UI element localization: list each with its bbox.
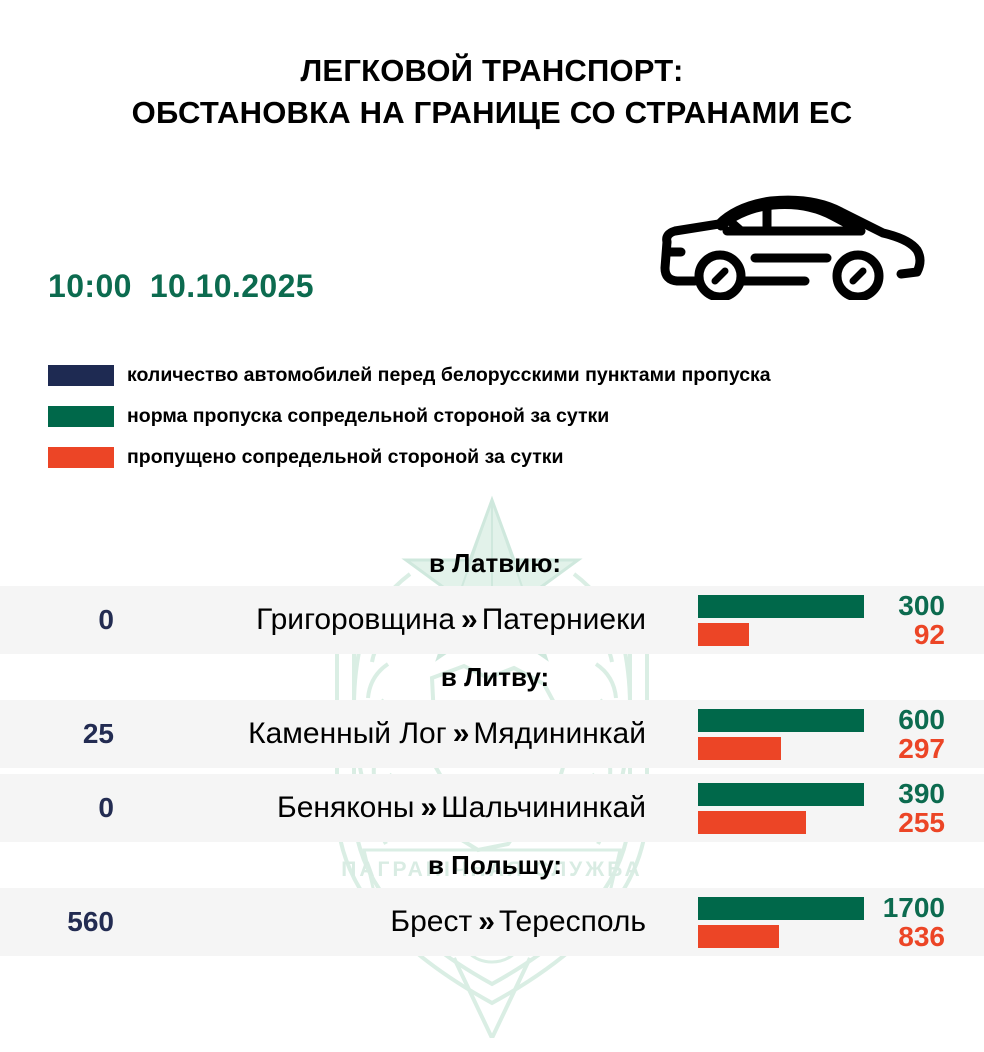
bar-passed <box>698 811 806 834</box>
chevron-right-icon: » <box>472 905 499 938</box>
bar-norm <box>698 709 864 732</box>
legend-item-passed: пропущено сопредельной стороной за сутки <box>48 437 771 478</box>
value-norm: 300 <box>864 591 945 620</box>
route-from: Брест <box>390 905 472 938</box>
bar-passed <box>698 737 781 760</box>
border-crossing-table: в Латвию: 0 Григоровщина»Патерниеки 300 … <box>0 540 984 956</box>
queue-count: 0 <box>0 792 118 824</box>
route: Каменный Лог»Мядининкай <box>118 716 698 752</box>
route: Брест»Тересполь <box>118 904 698 940</box>
chevron-right-icon: » <box>414 791 441 824</box>
route-to: Мядининкай <box>473 717 646 750</box>
legend-label-queue: количество автомобилей перед белорусским… <box>127 364 771 387</box>
timestamp-date: 10.10.2025 <box>150 268 314 304</box>
section-header-lithuania: в Литву: <box>0 654 984 700</box>
value-norm: 390 <box>864 779 945 808</box>
legend-swatch-navy <box>48 365 114 386</box>
bars <box>698 897 864 948</box>
value-passed: 297 <box>864 734 945 763</box>
bar-norm <box>698 783 864 806</box>
table-row: 560 Брест»Тересполь 1700 836 <box>0 888 984 956</box>
queue-count: 560 <box>0 906 118 938</box>
legend-label-norm: норма пропуска сопредельной стороной за … <box>127 405 609 428</box>
values: 600 297 <box>864 705 984 763</box>
legend-swatch-green <box>48 406 114 427</box>
title-line-2: ОБСТАНОВКА НА ГРАНИЦЕ СО СТРАНАМИ ЕС <box>0 92 984 134</box>
timestamp: 10:0010.10.2025 <box>48 268 314 305</box>
bars <box>698 783 864 834</box>
chevron-right-icon: » <box>455 603 482 636</box>
route-to: Тересполь <box>499 905 646 938</box>
table-row: 0 Беняконы»Шальчининкай 390 255 <box>0 774 984 842</box>
route-from: Беняконы <box>277 791 414 824</box>
infographic-page: ПАГРАНІЧНАЯ СЛУЖБА РЭСПУБЛІКІ БЕЛАРУСЬ Л… <box>0 0 984 1052</box>
values: 300 92 <box>864 591 984 649</box>
car-icon <box>655 190 930 300</box>
queue-count: 25 <box>0 718 118 750</box>
value-passed: 255 <box>864 808 945 837</box>
page-title: ЛЕГКОВОЙ ТРАНСПОРТ: ОБСТАНОВКА НА ГРАНИЦ… <box>0 50 984 134</box>
table-row: 25 Каменный Лог»Мядининкай 600 297 <box>0 700 984 768</box>
route: Беняконы»Шальчининкай <box>118 790 698 826</box>
chevron-right-icon: » <box>447 717 474 750</box>
value-norm: 600 <box>864 705 945 734</box>
values: 1700 836 <box>864 893 984 951</box>
timestamp-time: 10:00 <box>48 268 132 304</box>
bar-passed <box>698 925 779 948</box>
route-from: Григоровщина <box>256 603 455 636</box>
values: 390 255 <box>864 779 984 837</box>
value-passed: 836 <box>864 922 945 951</box>
queue-count: 0 <box>0 604 118 636</box>
table-row: 0 Григоровщина»Патерниеки 300 92 <box>0 586 984 654</box>
route-to: Шальчининкай <box>441 791 646 824</box>
value-passed: 92 <box>864 620 945 649</box>
route-from: Каменный Лог <box>248 717 447 750</box>
title-line-1: ЛЕГКОВОЙ ТРАНСПОРТ: <box>0 50 984 92</box>
legend-item-norm: норма пропуска сопредельной стороной за … <box>48 396 771 437</box>
legend: количество автомобилей перед белорусским… <box>48 355 771 478</box>
bar-passed <box>698 623 749 646</box>
section-header-poland: в Польшу: <box>0 842 984 888</box>
route: Григоровщина»Патерниеки <box>118 602 698 638</box>
bar-norm <box>698 595 864 618</box>
bar-norm <box>698 897 864 920</box>
bars <box>698 595 864 646</box>
section-header-latvia: в Латвию: <box>0 540 984 586</box>
legend-item-queue: количество автомобилей перед белорусским… <box>48 355 771 396</box>
bars <box>698 709 864 760</box>
value-norm: 1700 <box>864 893 945 922</box>
legend-swatch-orange <box>48 447 114 468</box>
legend-label-passed: пропущено сопредельной стороной за сутки <box>127 446 564 469</box>
route-to: Патерниеки <box>482 603 646 636</box>
